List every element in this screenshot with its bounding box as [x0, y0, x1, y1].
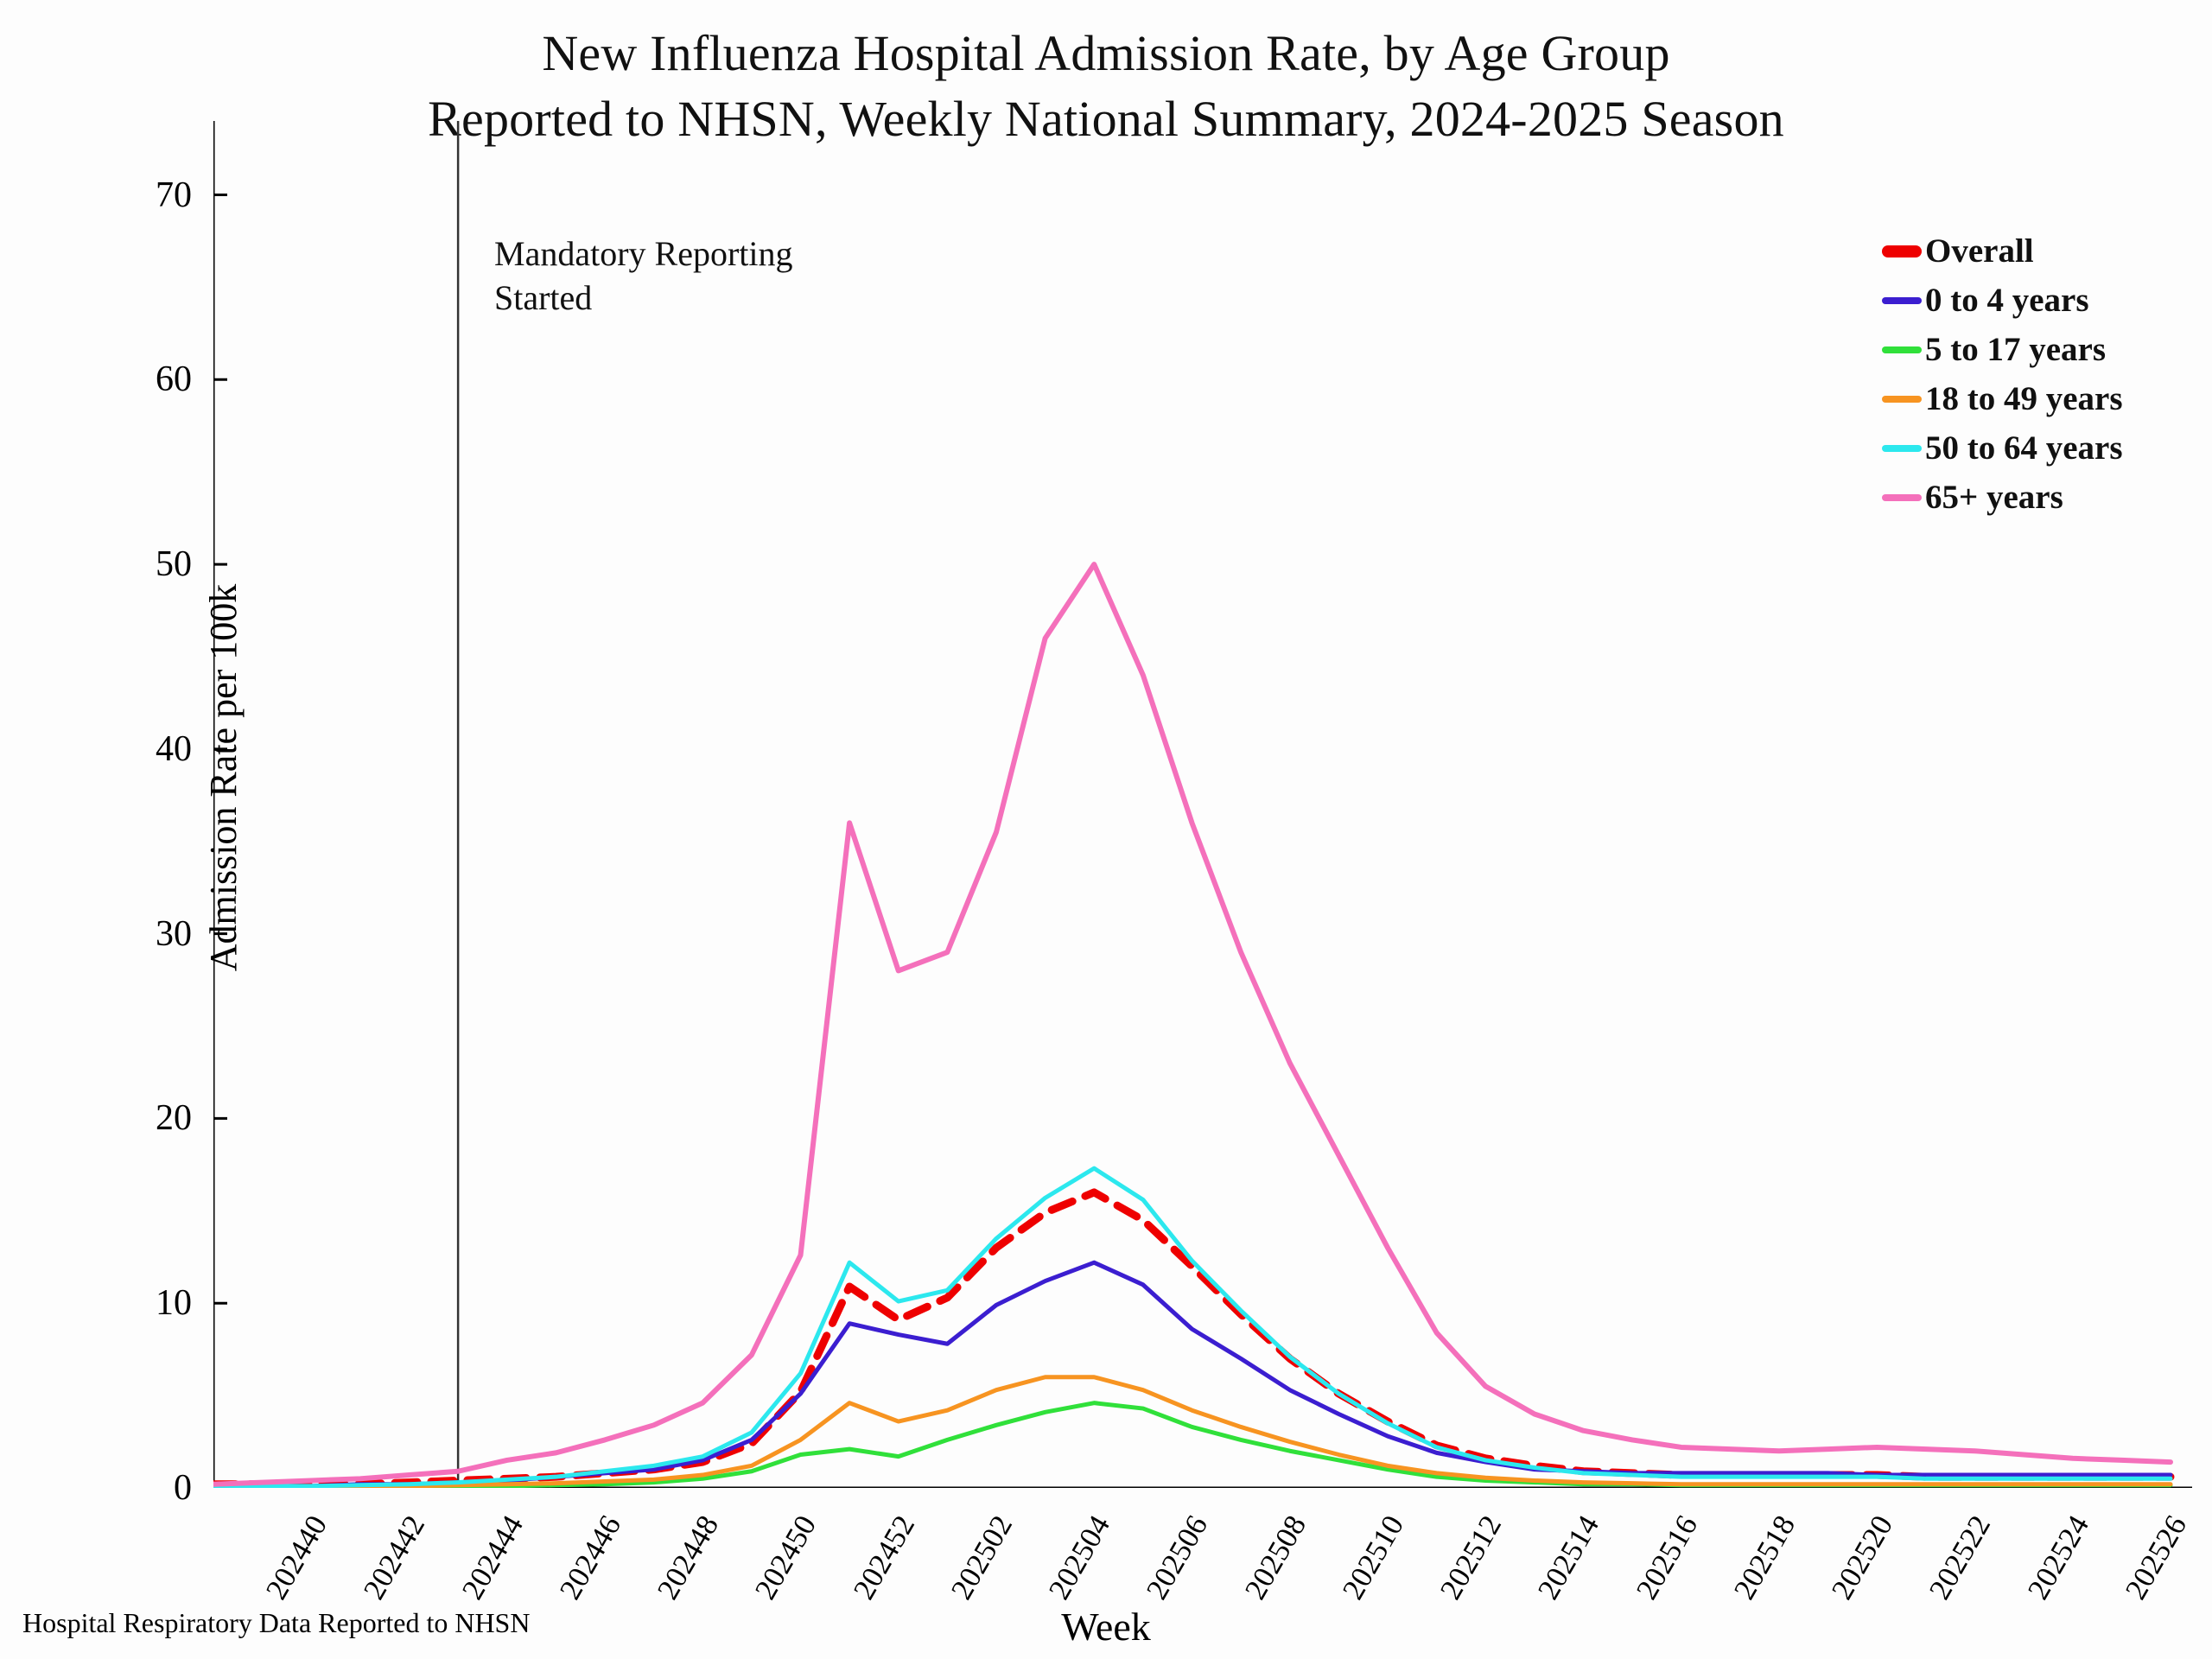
x-tick-label: 202502	[944, 1510, 1020, 1605]
legend-item-65-years[interactable]: 65+ years	[1882, 473, 2202, 522]
data-series-group	[213, 564, 2171, 1487]
x-tick-label: 202526	[2119, 1510, 2194, 1605]
x-tick-label: 202448	[651, 1510, 726, 1605]
footnote-text: Hospital Respiratory Data Reported to NH…	[22, 1607, 530, 1639]
mandatory-reporting-annotation: Mandatory Reporting Started	[494, 232, 793, 320]
y-tick-label: 70	[156, 175, 192, 216]
x-tick-label: 202452	[846, 1510, 921, 1605]
y-tick-label: 40	[156, 728, 192, 770]
chart-legend: Overall0 to 4 years5 to 17 years18 to 49…	[1882, 226, 2202, 522]
x-tick-label: 202504	[1042, 1510, 1117, 1605]
y-axis-label: Admission Rate per 100k	[201, 584, 245, 972]
x-tick-label: 202450	[748, 1510, 823, 1605]
y-tick-label: 30	[156, 913, 192, 955]
x-tick-label: 202446	[553, 1510, 628, 1605]
x-tick-label: 202510	[1336, 1510, 1411, 1605]
legend-item-5-to-17-years[interactable]: 5 to 17 years	[1882, 325, 2202, 374]
legend-label: 50 to 64 years	[1925, 429, 2123, 467]
legend-label: 18 to 49 years	[1925, 379, 2123, 418]
x-tick-label: 202524	[2020, 1510, 2095, 1605]
x-tick-label: 202442	[357, 1510, 432, 1605]
legend-swatch-icon	[1882, 297, 1922, 304]
legend-item-0-to-4-years[interactable]: 0 to 4 years	[1882, 276, 2202, 325]
y-axis-label-wrap: Admission Rate per 100k	[0, 346, 86, 1210]
legend-swatch-icon	[1882, 494, 1922, 501]
legend-item-overall[interactable]: Overall	[1882, 226, 2202, 276]
series-line-65-years	[213, 564, 2171, 1484]
legend-label: 0 to 4 years	[1925, 281, 2089, 320]
x-tick-label: 202444	[454, 1510, 530, 1605]
chart-title-line-1: New Influenza Hospital Admission Rate, b…	[0, 24, 2212, 82]
legend-label: 65+ years	[1925, 478, 2063, 517]
legend-swatch-icon	[1882, 445, 1922, 452]
series-line-0-to-4-years	[213, 1262, 2171, 1486]
legend-label: Overall	[1925, 232, 2034, 270]
y-tick-label: 20	[156, 1097, 192, 1139]
axis-ticks	[213, 195, 2171, 1488]
x-tick-label: 202514	[1531, 1510, 1606, 1605]
series-line-18-to-49-years	[213, 1377, 2171, 1487]
x-tick-label: 202440	[259, 1510, 334, 1605]
y-tick-label: 50	[156, 543, 192, 585]
x-tick-label: 202506	[1140, 1510, 1215, 1605]
legend-swatch-icon	[1882, 346, 1922, 353]
legend-item-50-to-64-years[interactable]: 50 to 64 years	[1882, 423, 2202, 473]
y-tick-label: 60	[156, 359, 192, 400]
annotation-line-2: Started	[494, 276, 793, 320]
x-tick-label: 202520	[1825, 1510, 1900, 1605]
legend-label: 5 to 17 years	[1925, 330, 2106, 369]
y-tick-label: 0	[174, 1467, 192, 1509]
y-tick-label: 10	[156, 1282, 192, 1324]
legend-swatch-icon	[1882, 396, 1922, 403]
chart-page: New Influenza Hospital Admission Rate, b…	[0, 0, 2212, 1659]
x-tick-label: 202516	[1629, 1510, 1704, 1605]
legend-item-18-to-49-years[interactable]: 18 to 49 years	[1882, 374, 2202, 423]
legend-swatch-icon	[1882, 245, 1922, 257]
x-tick-label: 202508	[1237, 1510, 1313, 1605]
x-tick-label: 202518	[1727, 1510, 1802, 1605]
annotation-line-1: Mandatory Reporting	[494, 232, 793, 276]
x-tick-label: 202522	[1923, 1510, 1998, 1605]
x-tick-label: 202512	[1433, 1510, 1509, 1605]
series-line-overall	[213, 1192, 2171, 1484]
